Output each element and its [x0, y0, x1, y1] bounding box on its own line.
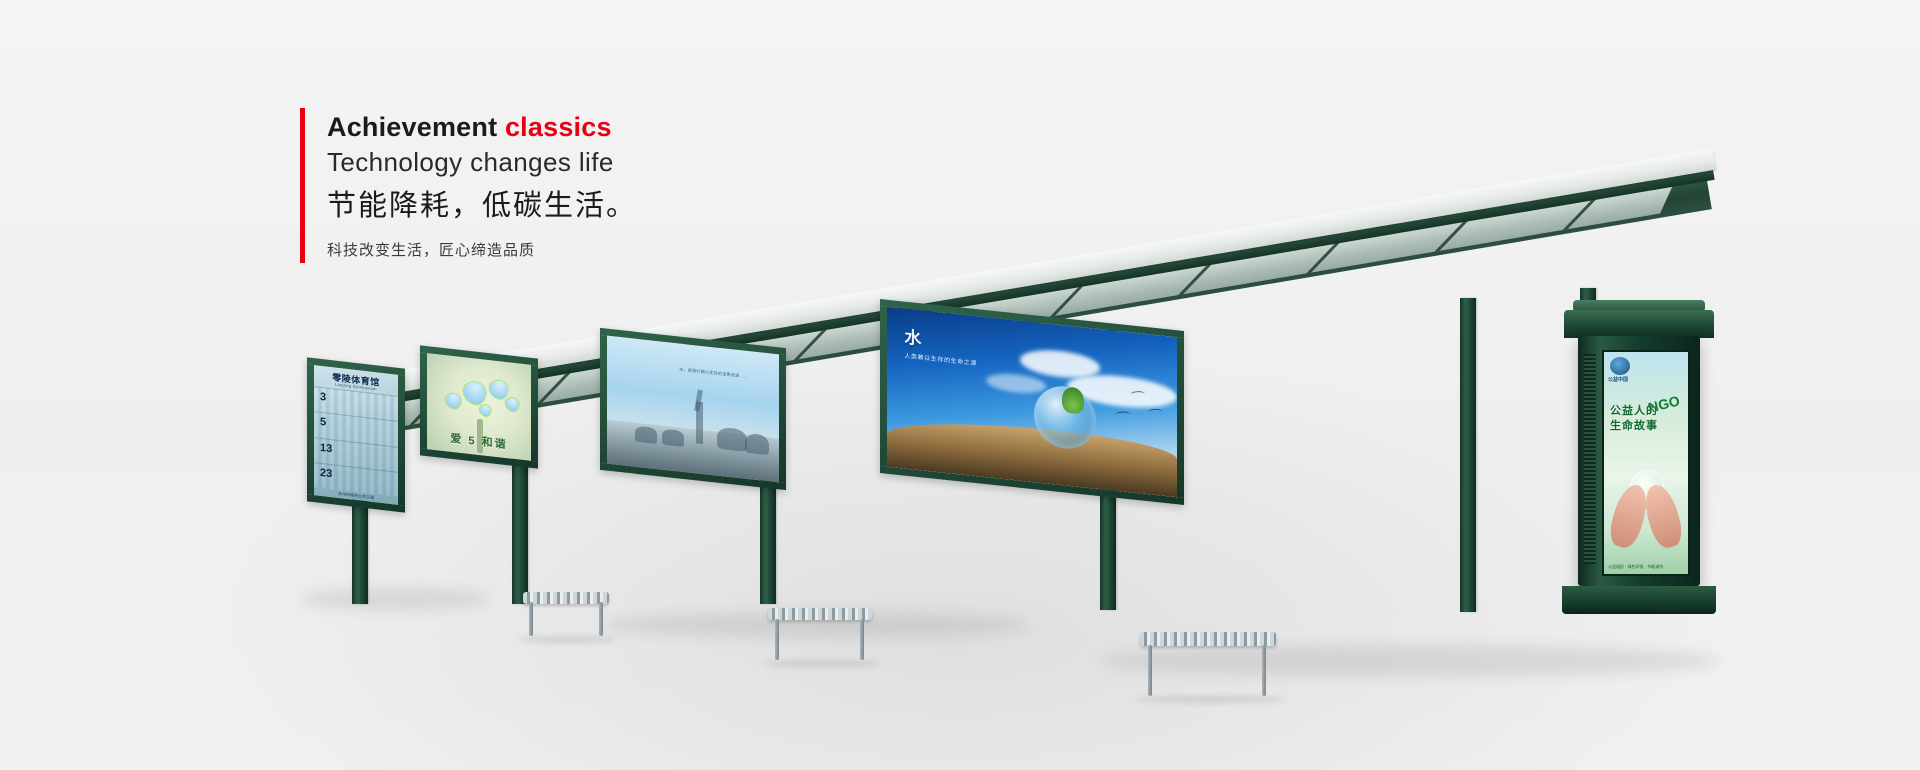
bird-silhouette: [1116, 411, 1131, 418]
bench-right: [1140, 632, 1276, 698]
camel-silhouette: [745, 433, 769, 456]
bus-shelter: 零陵体育馆 Lingling Gymnasium 3 5 13 23 永州市城市…: [0, 0, 1920, 770]
panel-poster-water[interactable]: 水 人类赖以生存的生命之源: [880, 299, 1184, 505]
column-logo-icon: [1610, 357, 1630, 375]
column-title-line1: 公益人的: [1610, 404, 1684, 419]
column-logo-text: 公益中国: [1608, 376, 1628, 383]
bench-leg: [1262, 645, 1266, 696]
route-number: 3: [320, 391, 326, 404]
panel-bus-schedule[interactable]: 零陵体育馆 Lingling Gymnasium 3 5 13 23 永州市城市…: [307, 357, 405, 512]
panel-poster-tree[interactable]: 爱 5 和谐: [420, 345, 538, 468]
water-poster-subtitle: 人类赖以生存的生命之源: [904, 350, 977, 367]
bird-silhouette: [1148, 408, 1163, 415]
bench-leg: [1148, 645, 1152, 696]
bird-silhouette: [1130, 390, 1145, 397]
column-title-line2: 生命故事: [1610, 419, 1684, 434]
bench-shadow: [519, 636, 615, 643]
horse-silhouette: [635, 426, 657, 444]
bench-leg: [599, 602, 603, 636]
panel-led-column[interactable]: 公益中国 NGO 公益人的 生命故事 公益组织 · 绿色环保 · 节能减排: [1578, 336, 1700, 586]
bench-middle: [768, 608, 872, 662]
bench-seat: [1140, 632, 1276, 646]
column-cap: [1564, 310, 1714, 338]
desert-dune: [887, 412, 1177, 497]
elephant-silhouette: [717, 427, 747, 452]
zebra-silhouette: [662, 429, 684, 447]
bench-left: [523, 592, 609, 638]
water-poster-title: 水: [904, 323, 921, 350]
column-vent-grille: [1584, 354, 1596, 564]
bench-seat: [523, 592, 609, 604]
route-number: 23: [320, 467, 332, 480]
bench-leg: [860, 619, 864, 660]
bench-shadow: [1136, 696, 1286, 703]
schedule-route-list: 3 5 13 23: [314, 386, 398, 493]
ground-shadow-left: [300, 588, 490, 610]
column-poster-footer: 公益组织 · 绿色环保 · 节能减排: [1608, 564, 1684, 570]
route-number: 13: [320, 441, 332, 454]
bench-seat: [768, 608, 872, 620]
schedule-screen: 零陵体育馆 Lingling Gymnasium 3 5 13 23 永州市城市…: [314, 365, 398, 505]
animals-poster-art: 水，是我们赖以生存的宝贵资源……: [607, 336, 779, 483]
route-number: 5: [320, 416, 326, 429]
bench-leg: [529, 602, 533, 636]
animals-poster-caption: 水，是我们赖以生存的宝贵资源……: [679, 367, 748, 380]
column-screen[interactable]: 公益中国 NGO 公益人的 生命故事 公益组织 · 绿色环保 · 节能减排: [1602, 350, 1690, 576]
cloud-shape: [986, 372, 1046, 396]
panel-poster-animals[interactable]: 水，是我们赖以生存的宝贵资源……: [600, 328, 786, 490]
bench-leg: [775, 619, 779, 660]
column-poster-title: 公益人的 生命故事: [1610, 404, 1684, 434]
column-base: [1562, 586, 1716, 614]
tree-poster-art: 爱 5 和谐: [427, 353, 531, 461]
bench-shadow: [764, 660, 880, 667]
shelter-post-5: [1460, 298, 1476, 612]
water-poster-art: 水 人类赖以生存的生命之源: [887, 307, 1177, 497]
hand-right-shape: [1640, 481, 1686, 551]
